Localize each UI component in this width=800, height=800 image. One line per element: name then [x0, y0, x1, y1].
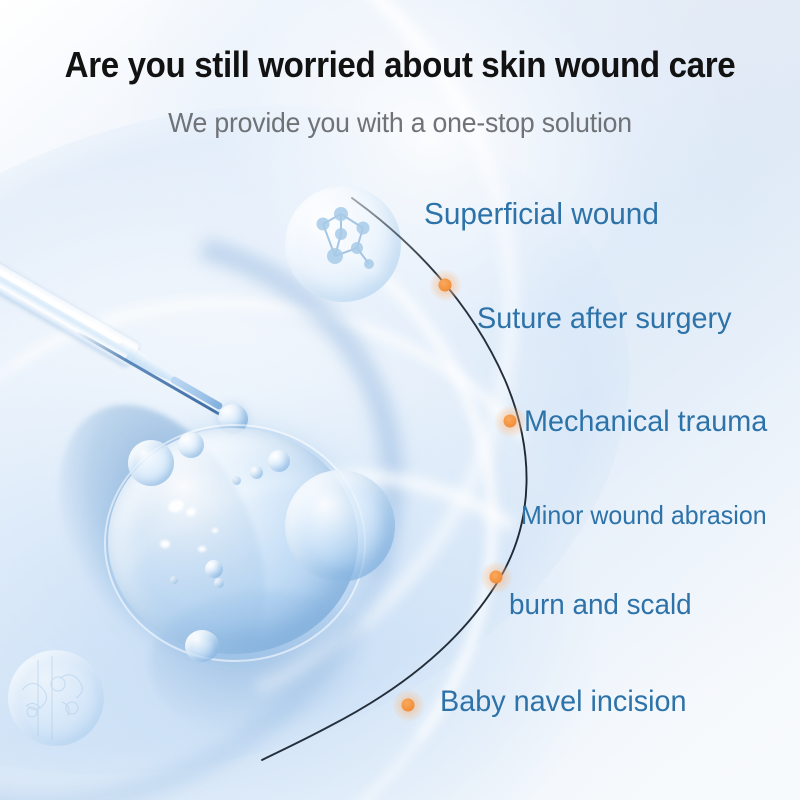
- list-marker-dot: [490, 571, 503, 584]
- list-item-burn-and-scald: burn and scald: [509, 589, 692, 622]
- list-marker-dot: [402, 699, 415, 712]
- poster: Are you still worried about skin wound c…: [0, 0, 800, 800]
- list-marker-dot: [504, 415, 517, 428]
- page-title: Are you still worried about skin wound c…: [32, 44, 768, 86]
- list-item-mechanical-trauma: Mechanical trauma: [524, 405, 767, 439]
- list-item-superficial-wound: Superficial wound: [424, 196, 659, 232]
- page-subtitle: We provide you with a one-stop solution: [20, 107, 780, 139]
- list-item-suture-after-surgery: Suture after surgery: [477, 302, 732, 336]
- list-item-minor-wound-abrasion: Minor wound abrasion: [521, 500, 767, 531]
- list-item-baby-navel-incision: Baby navel incision: [440, 685, 687, 719]
- list-marker-dot: [439, 279, 452, 292]
